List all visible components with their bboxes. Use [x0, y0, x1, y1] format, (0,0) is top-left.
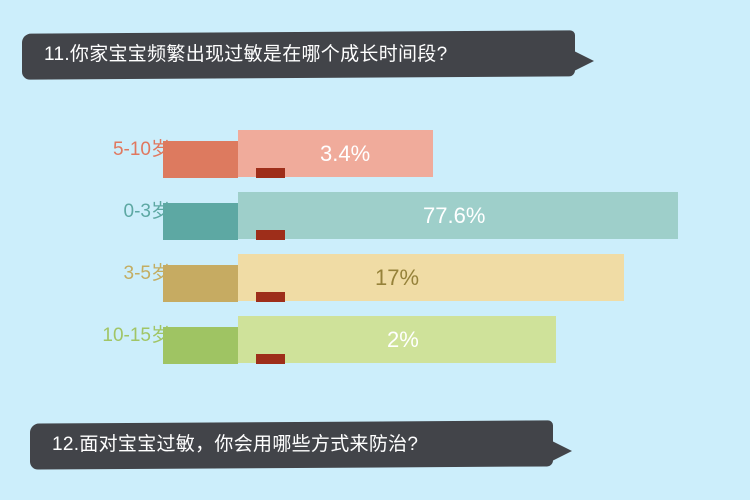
- bar-accent-tab: [256, 230, 285, 240]
- chart-row: 5-10岁3.4%: [0, 120, 750, 182]
- category-label: 5-10岁: [60, 134, 170, 161]
- category-label-box: 5-10岁: [60, 120, 170, 182]
- category-label: 10-15岁: [60, 320, 170, 347]
- bar-segment-dark: [163, 141, 238, 178]
- bar-segment-dark: [163, 327, 238, 364]
- bubble-tail-icon: [572, 50, 594, 72]
- bar-segment-light: [238, 254, 624, 301]
- chart-row: 10-15岁2%: [0, 306, 750, 368]
- bar-value-label: 17%: [375, 254, 419, 301]
- bubble-tail-icon: [550, 440, 572, 462]
- category-label: 0-3岁: [60, 196, 170, 223]
- chart-row: 0-3岁77.6%: [0, 182, 750, 244]
- question-bubble-12: 12.面对宝宝过敏，你会用哪些方式来防治?: [30, 422, 570, 468]
- bar-value-label: 77.6%: [423, 192, 485, 239]
- bar-accent-tab: [256, 168, 285, 178]
- bar-segment-dark: [163, 203, 238, 240]
- category-label-box: 3-5岁: [60, 244, 170, 306]
- category-label-box: 10-15岁: [60, 306, 170, 368]
- question-11-text: 11.你家宝宝频繁出现过敏是在哪个成长时间段?: [44, 32, 447, 78]
- chart-row: 3-5岁17%: [0, 244, 750, 306]
- bar-chart: 5-10岁3.4%0-3岁77.6%3-5岁17%10-15岁2%: [0, 120, 750, 380]
- bar-value-label: 2%: [387, 316, 419, 363]
- bar-segment-dark: [163, 265, 238, 302]
- question-bubble-11: 11.你家宝宝频繁出现过敏是在哪个成长时间段?: [22, 32, 592, 78]
- bar-value-label: 3.4%: [320, 130, 370, 177]
- bar-accent-tab: [256, 354, 285, 364]
- bar-accent-tab: [256, 292, 285, 302]
- question-12-text: 12.面对宝宝过敏，你会用哪些方式来防治?: [52, 422, 418, 468]
- category-label: 3-5岁: [60, 258, 170, 285]
- category-label-box: 0-3岁: [60, 182, 170, 244]
